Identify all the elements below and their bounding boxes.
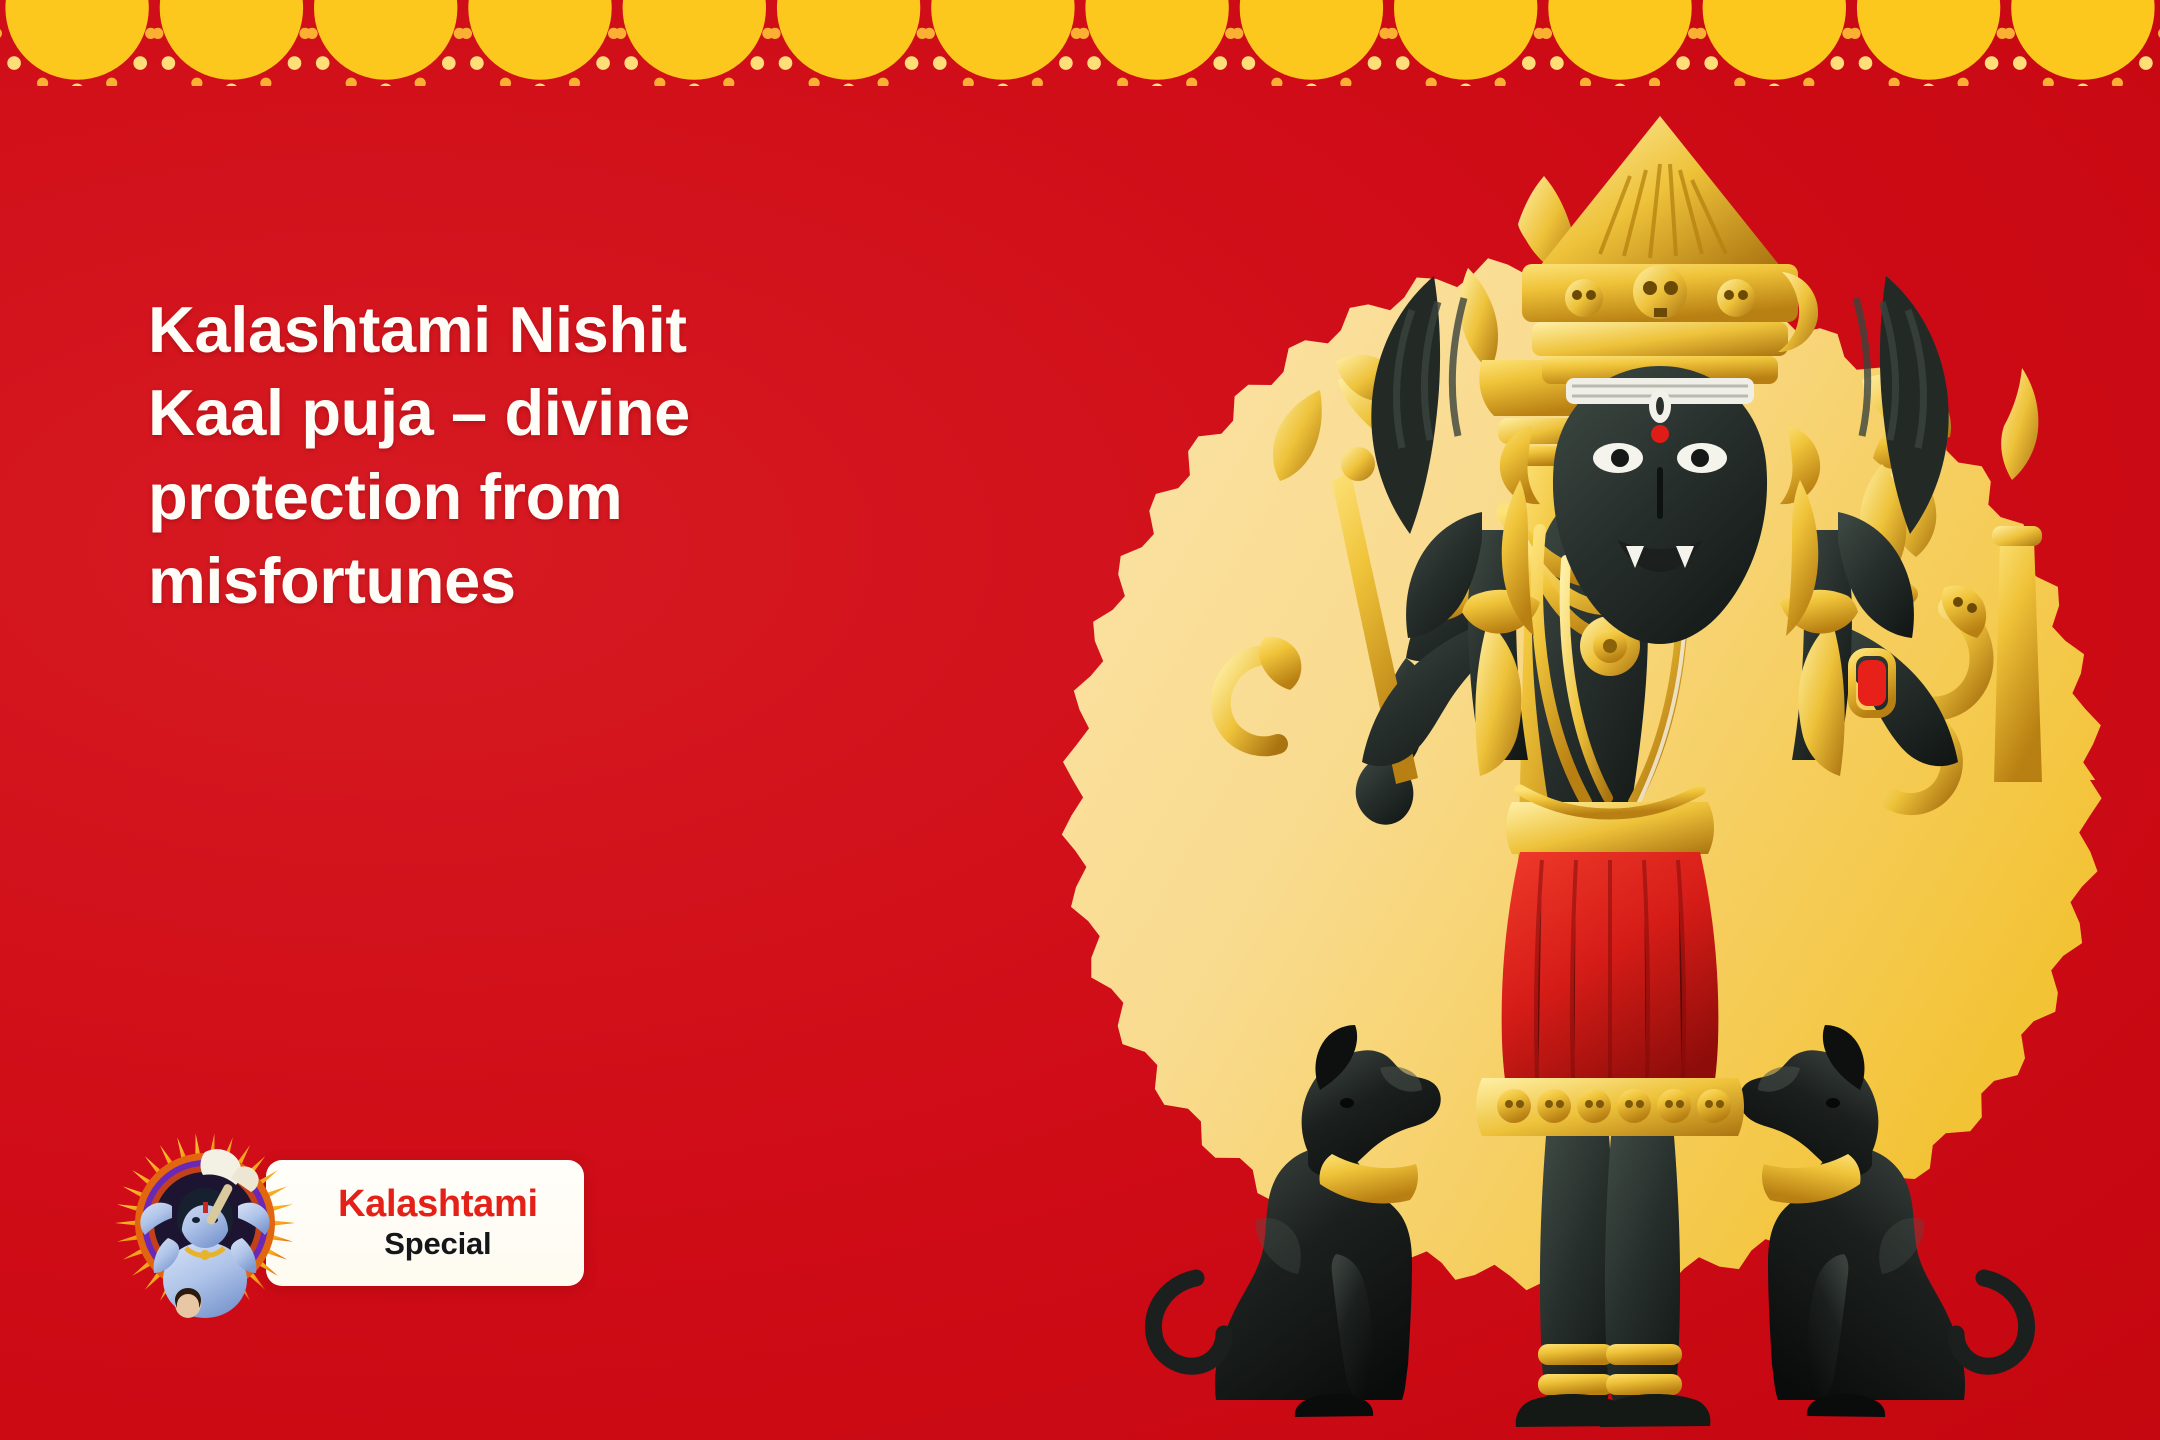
deity-artwork — [1020, 60, 2160, 1440]
skull-garland — [1476, 1078, 1744, 1136]
badge-title: Kalashtami — [338, 1185, 538, 1224]
promotional-banner: Kalashtami Nishit Kaal puja – divine pro… — [0, 0, 2160, 1440]
status-badge[interactable]: Kalashtami Special — [266, 1160, 584, 1286]
badge-subtitle: Special — [384, 1227, 491, 1261]
deity-medallion-logo[interactable] — [110, 1128, 300, 1318]
spear-weapon — [1992, 368, 2042, 782]
brand-lockup[interactable]: Kalashtami Special — [110, 1128, 584, 1318]
page-title: Kalashtami Nishit Kaal puja – divine pro… — [148, 288, 1028, 623]
kaal-bhairav-illustration — [1020, 60, 2160, 1440]
bindi — [1651, 425, 1669, 443]
gold-crown — [1522, 116, 1818, 384]
